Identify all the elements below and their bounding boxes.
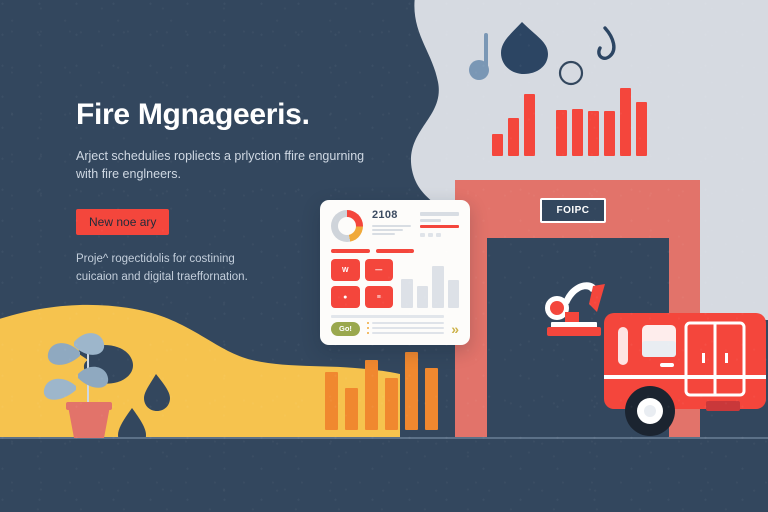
placeholder-line (420, 219, 441, 222)
card-kpi-value: 2108 (372, 210, 411, 221)
card-mid-row: W — ● ≡ (331, 259, 459, 308)
double-chevron-right-icon[interactable]: » (451, 322, 459, 336)
potted-plant (38, 332, 138, 442)
flame-bar-chart (325, 345, 465, 430)
placeholder-line (420, 212, 459, 216)
accent-pill (331, 249, 370, 253)
card-tile-glyph: ● (343, 294, 347, 301)
placeholder-line (372, 332, 444, 334)
accent-line (420, 225, 459, 228)
card-icon-row (420, 233, 459, 237)
station-sign: FOIPC (540, 198, 606, 223)
go-button[interactable]: Go! (331, 322, 360, 336)
card-tile-grid: W — ● ≡ (331, 259, 393, 308)
bullet-dot (367, 327, 370, 330)
card-right-summary (420, 210, 459, 237)
dashboard-card[interactable]: 2108 (320, 200, 470, 345)
mini-chip (428, 233, 433, 237)
placeholder-line (331, 315, 444, 318)
mini-chip (436, 233, 441, 237)
card-tile-glyph: ≡ (377, 294, 381, 301)
placeholder-line (372, 229, 403, 231)
card-tile[interactable]: ≡ (365, 286, 394, 308)
card-bottom-row: Go! » (331, 315, 459, 337)
placeholder-line (372, 322, 444, 324)
new-badge[interactable]: New noe ary (76, 209, 169, 235)
card-tile[interactable]: ● (331, 286, 360, 308)
card-top-row: 2108 (331, 210, 459, 242)
smoke-bar-chart (492, 88, 672, 156)
placeholder-line (372, 327, 444, 329)
card-tile-glyph: — (375, 267, 382, 274)
page-note: Proje^ rogectidolis for costining cuicai… (76, 251, 271, 286)
plant-pot (68, 406, 110, 438)
card-kpi: 2108 (372, 210, 411, 237)
card-mini-bar-chart (401, 259, 459, 308)
card-tile-glyph: W (342, 267, 349, 274)
card-pill-row (331, 249, 459, 253)
illustration-canvas: FOIPC (0, 0, 768, 512)
page-subtitle: Arject schedulies ropliects a prlyction … (76, 147, 366, 183)
ground-band (0, 437, 768, 512)
bullet-dot (367, 332, 370, 335)
placeholder-line (372, 225, 411, 227)
page-title: Fire Mgnageeris. (76, 98, 366, 131)
card-bullet-list (367, 322, 444, 337)
card-tile[interactable]: W (331, 259, 360, 281)
bullet-dot (367, 322, 370, 325)
fire-truck (602, 305, 768, 445)
station-sign-label: FOIPC (556, 205, 589, 216)
mini-chip (420, 233, 425, 237)
accent-pill (376, 249, 415, 253)
card-donut-chart (331, 210, 363, 242)
placeholder-line (372, 233, 395, 235)
card-tile[interactable]: — (365, 259, 394, 281)
card-kpi-lines (372, 225, 411, 235)
